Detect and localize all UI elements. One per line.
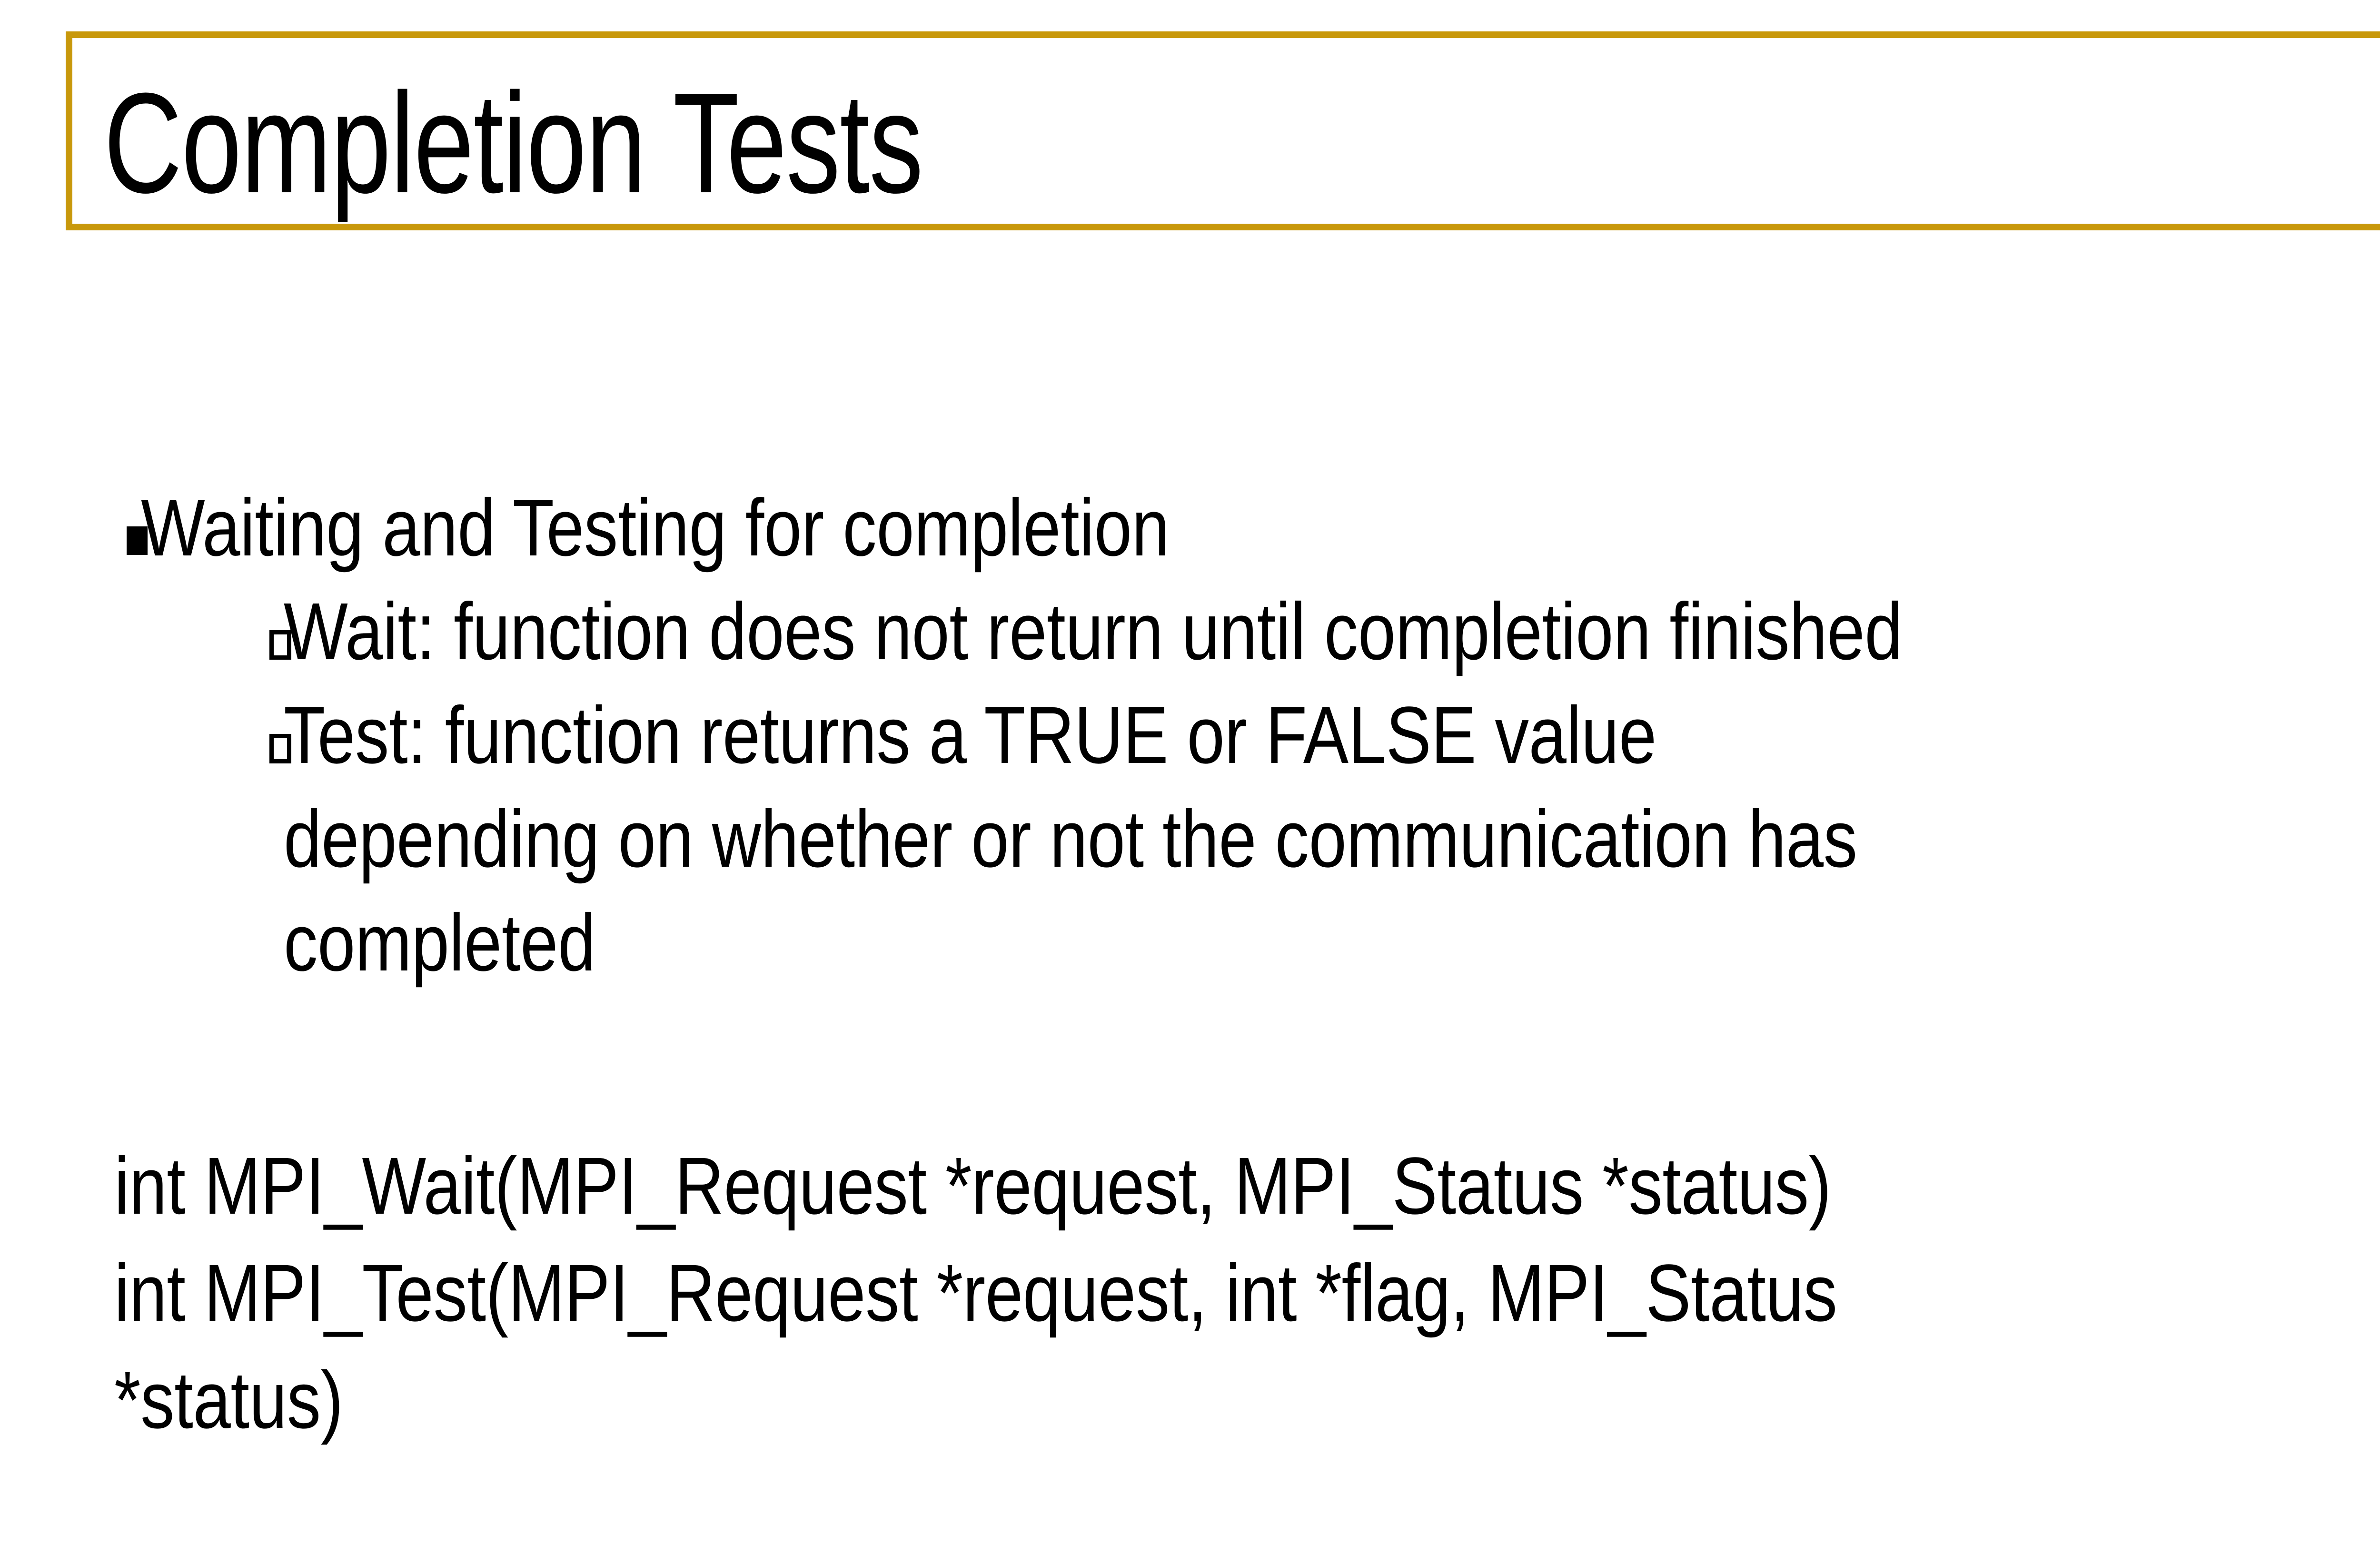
list-item-label: Wait: function does not return until com… xyxy=(284,580,1902,683)
list-item-continuation: completed xyxy=(284,891,2380,995)
list-item: Waiting and Testing for completion xyxy=(114,476,2380,580)
list-item-continuation: depending on whether or not the communic… xyxy=(284,787,2380,891)
list-item-label: depending on whether or not the communic… xyxy=(284,787,1857,891)
presentation-slide: Completion Tests Waiting and Testing for… xyxy=(0,0,2380,1544)
code-line: int MPI_Wait(MPI_Request *request, MPI_S… xyxy=(114,1133,2233,1240)
code-line: int MPI_Test(MPI_Request *request, int *… xyxy=(114,1240,2233,1347)
list-item-label: Waiting and Testing for completion xyxy=(141,476,1170,580)
list-item-label: Test: function returns a TRUE or FALSE v… xyxy=(284,683,1656,787)
code-signature-block: int MPI_Wait(MPI_Request *request, MPI_S… xyxy=(114,1133,2380,1454)
page-title: Completion Tests xyxy=(104,71,1985,214)
list-item: Wait: function does not return until com… xyxy=(257,580,2380,683)
list-item-label: completed xyxy=(284,891,595,995)
body-content: Waiting and Testing for completion Wait:… xyxy=(114,476,2380,995)
code-line: *status) xyxy=(114,1347,2233,1454)
list-item: Test: function returns a TRUE or FALSE v… xyxy=(257,683,2380,787)
